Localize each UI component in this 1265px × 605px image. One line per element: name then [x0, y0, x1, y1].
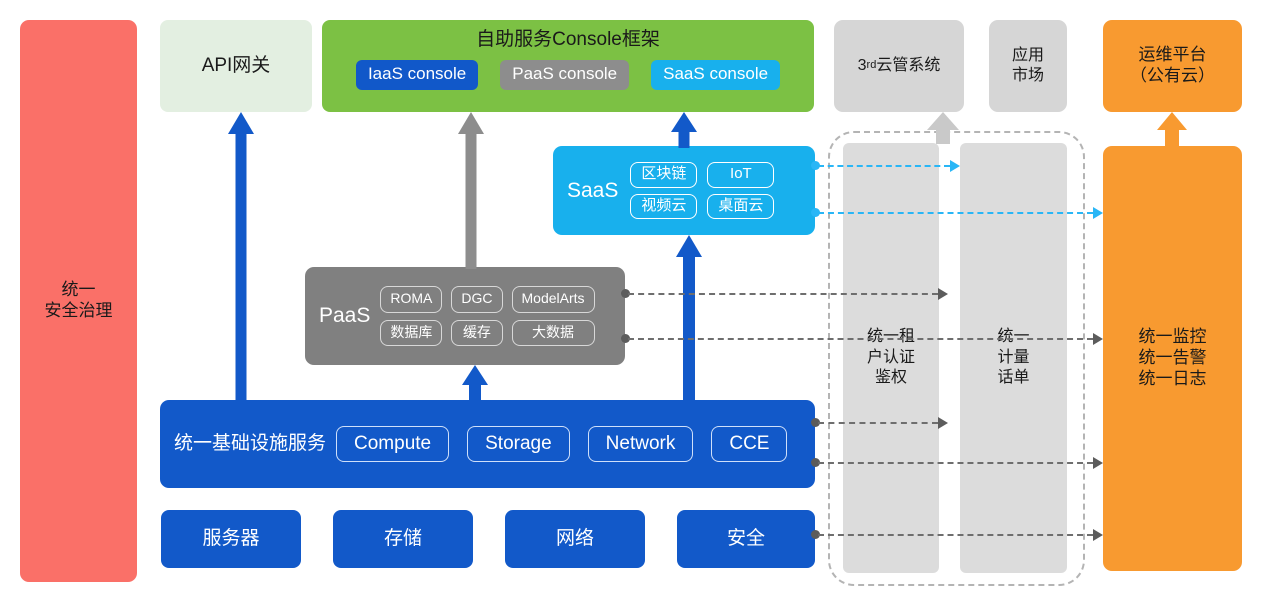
connector-arrowhead-iaas-auth [938, 417, 948, 429]
paas-block: PaaS ROMA DGC ModelArts 数据库 缓存 大数据 [305, 267, 625, 365]
connector-saas-to-auth [818, 165, 950, 167]
arrow-saas-to-console [671, 112, 697, 148]
console-framework-title: 自助服务Console框架 [476, 28, 660, 51]
connector-resources-to-ops [818, 534, 1093, 536]
connector-saas-to-ops [818, 212, 1093, 214]
connector-arrowhead-saas-auth [950, 160, 960, 172]
connector-iaas-to-ops [818, 462, 1093, 464]
unified-security-governance-panel: 统一安全治理 [20, 20, 137, 582]
unified-infrastructure-label: 统一基础设施服务 [174, 432, 326, 455]
saas-service-grid: 区块链 IoT 视频云 桌面云 [630, 162, 774, 219]
connector-paas-to-ops [628, 338, 1093, 340]
unified-metering-label: 统一计量话单 [997, 327, 1029, 388]
saas-service-iot[interactable]: IoT [707, 162, 774, 187]
connector-paas-to-auth [628, 293, 938, 295]
connector-arrowhead-saas-ops [1093, 207, 1103, 219]
resource-box-security[interactable]: 安全 [677, 510, 815, 568]
app-market-label: 应用市场 [1012, 46, 1044, 85]
unified-metering-column: 统一计量话单 [960, 143, 1067, 573]
unified-monitoring-label: 统一监控统一告警统一日志 [1139, 327, 1207, 389]
arrow-to-ops-platform [1157, 112, 1187, 148]
paas-service-modelarts[interactable]: ModelArts [512, 286, 595, 312]
connector-arrowhead-iaas-ops [1093, 457, 1103, 469]
api-gateway-label: API网关 [202, 54, 271, 77]
paas-console-chip[interactable]: PaaS console [500, 60, 629, 90]
unified-monitoring-panel: 统一监控统一告警统一日志 [1103, 146, 1242, 571]
unified-security-governance-label: 统一安全治理 [45, 280, 113, 321]
iaas-service-network[interactable]: Network [588, 426, 694, 462]
paas-service-roma[interactable]: ROMA [380, 286, 442, 312]
connector-arrowhead-resources-ops [1093, 529, 1103, 541]
ops-platform-label: 运维平台（公有云） [1130, 45, 1215, 86]
iaas-service-compute[interactable]: Compute [336, 426, 449, 462]
saas-console-chip[interactable]: SaaS console [651, 60, 780, 90]
iaas-service-group: Compute Storage Network CCE [336, 426, 787, 462]
arrow-iaas-to-api-gateway [228, 112, 254, 402]
unified-tenant-auth-label: 统一租户认证鉴权 [867, 327, 915, 388]
resource-box-server[interactable]: 服务器 [161, 510, 301, 568]
iaas-service-cce[interactable]: CCE [711, 426, 787, 462]
paas-service-grid: ROMA DGC ModelArts 数据库 缓存 大数据 [380, 286, 594, 345]
self-service-console-framework: 自助服务Console框架 IaaS console PaaS console … [322, 20, 814, 112]
paas-service-cache[interactable]: 缓存 [451, 320, 502, 346]
arrow-iaas-to-paas [462, 365, 488, 403]
paas-label: PaaS [319, 303, 370, 329]
api-gateway-box: API网关 [160, 20, 312, 112]
app-market-box: 应用市场 [989, 20, 1067, 112]
saas-block: SaaS 区块链 IoT 视频云 桌面云 [553, 146, 815, 235]
unified-infrastructure-service-bar: 统一基础设施服务 Compute Storage Network CCE [160, 400, 815, 488]
paas-service-database[interactable]: 数据库 [380, 320, 442, 346]
saas-service-blockchain[interactable]: 区块链 [630, 162, 697, 187]
arrow-to-third-party-cloud-management [928, 112, 958, 144]
paas-service-bigdata[interactable]: 大数据 [512, 320, 595, 346]
connector-iaas-to-auth [818, 422, 938, 424]
third-party-prefix: 3 [858, 56, 867, 76]
saas-service-desktop-cloud[interactable]: 桌面云 [707, 194, 774, 219]
resource-box-storage[interactable]: 存储 [333, 510, 473, 568]
unified-tenant-auth-column: 统一租户认证鉴权 [843, 143, 939, 573]
paas-service-dgc[interactable]: DGC [451, 286, 502, 312]
arrow-paas-to-console [458, 112, 484, 269]
iaas-service-storage[interactable]: Storage [467, 426, 570, 462]
connector-arrowhead-paas-auth [938, 288, 948, 300]
ops-platform-box: 运维平台（公有云） [1103, 20, 1242, 112]
third-party-cloud-management-box: 3rd云管系统 [834, 20, 964, 112]
third-party-superscript: rd [867, 59, 877, 72]
architecture-diagram: 统一安全治理 API网关 自助服务Console框架 IaaS console … [0, 0, 1265, 605]
iaas-console-chip[interactable]: IaaS console [356, 60, 478, 90]
third-party-label: 云管系统 [876, 56, 940, 76]
arrow-iaas-to-saas [676, 235, 702, 401]
saas-service-video-cloud[interactable]: 视频云 [630, 194, 697, 219]
console-chip-group: IaaS console PaaS console SaaS console [356, 60, 780, 90]
saas-label: SaaS [567, 178, 618, 204]
resource-box-network[interactable]: 网络 [505, 510, 645, 568]
connector-arrowhead-paas-ops [1093, 333, 1103, 345]
